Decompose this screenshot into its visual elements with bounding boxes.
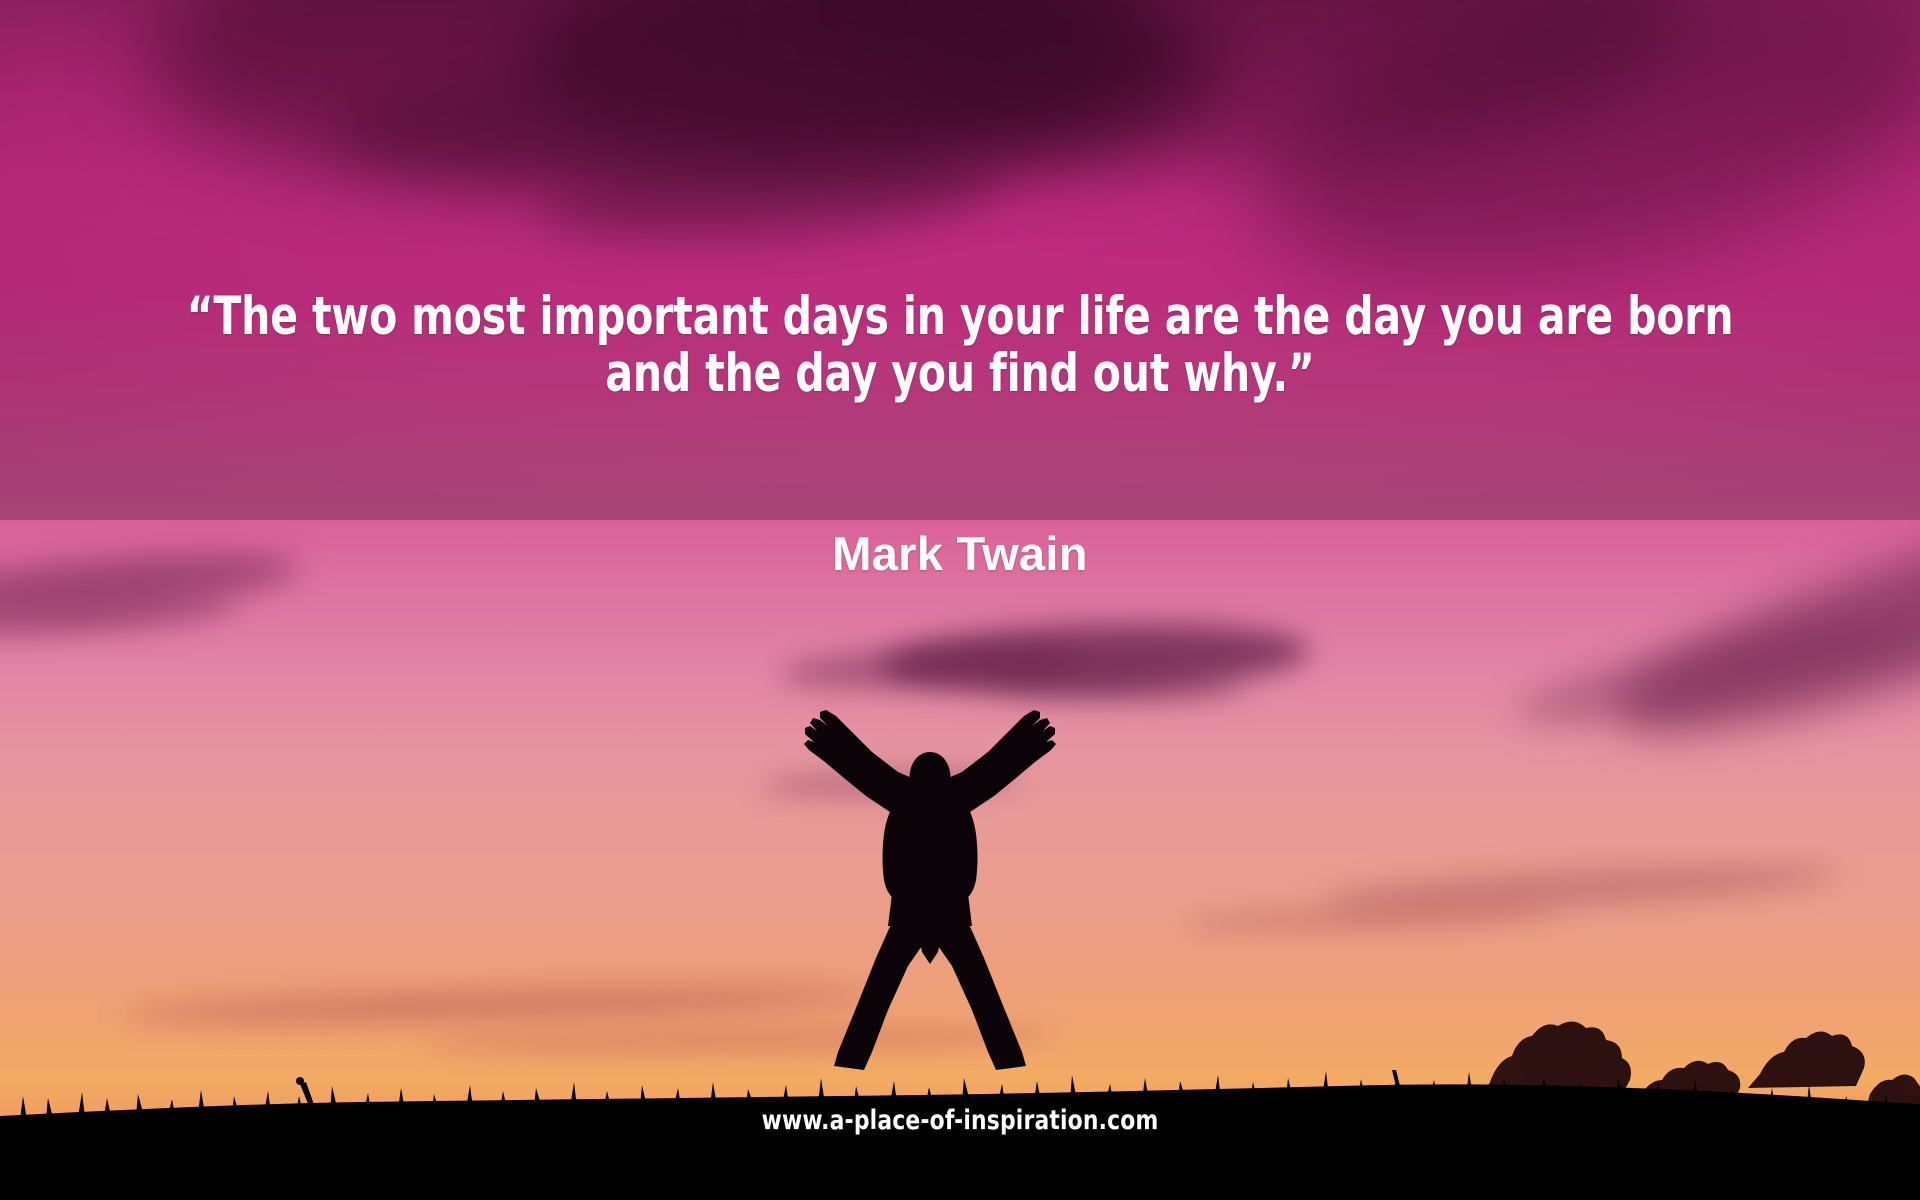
author-attribution: Mark Twain	[0, 528, 1920, 580]
quote-text: “The two most important days in your lif…	[134, 288, 1785, 402]
quote-line-2: and the day you find out why.”	[134, 345, 1785, 402]
ground-silhouette	[0, 970, 1920, 1200]
quote-poster: “The two most important days in your lif…	[0, 0, 1920, 1200]
quote-line-1: “The two most important days in your lif…	[134, 288, 1785, 345]
website-url[interactable]: www.a-place-of-inspiration.com	[96, 1106, 1824, 1136]
